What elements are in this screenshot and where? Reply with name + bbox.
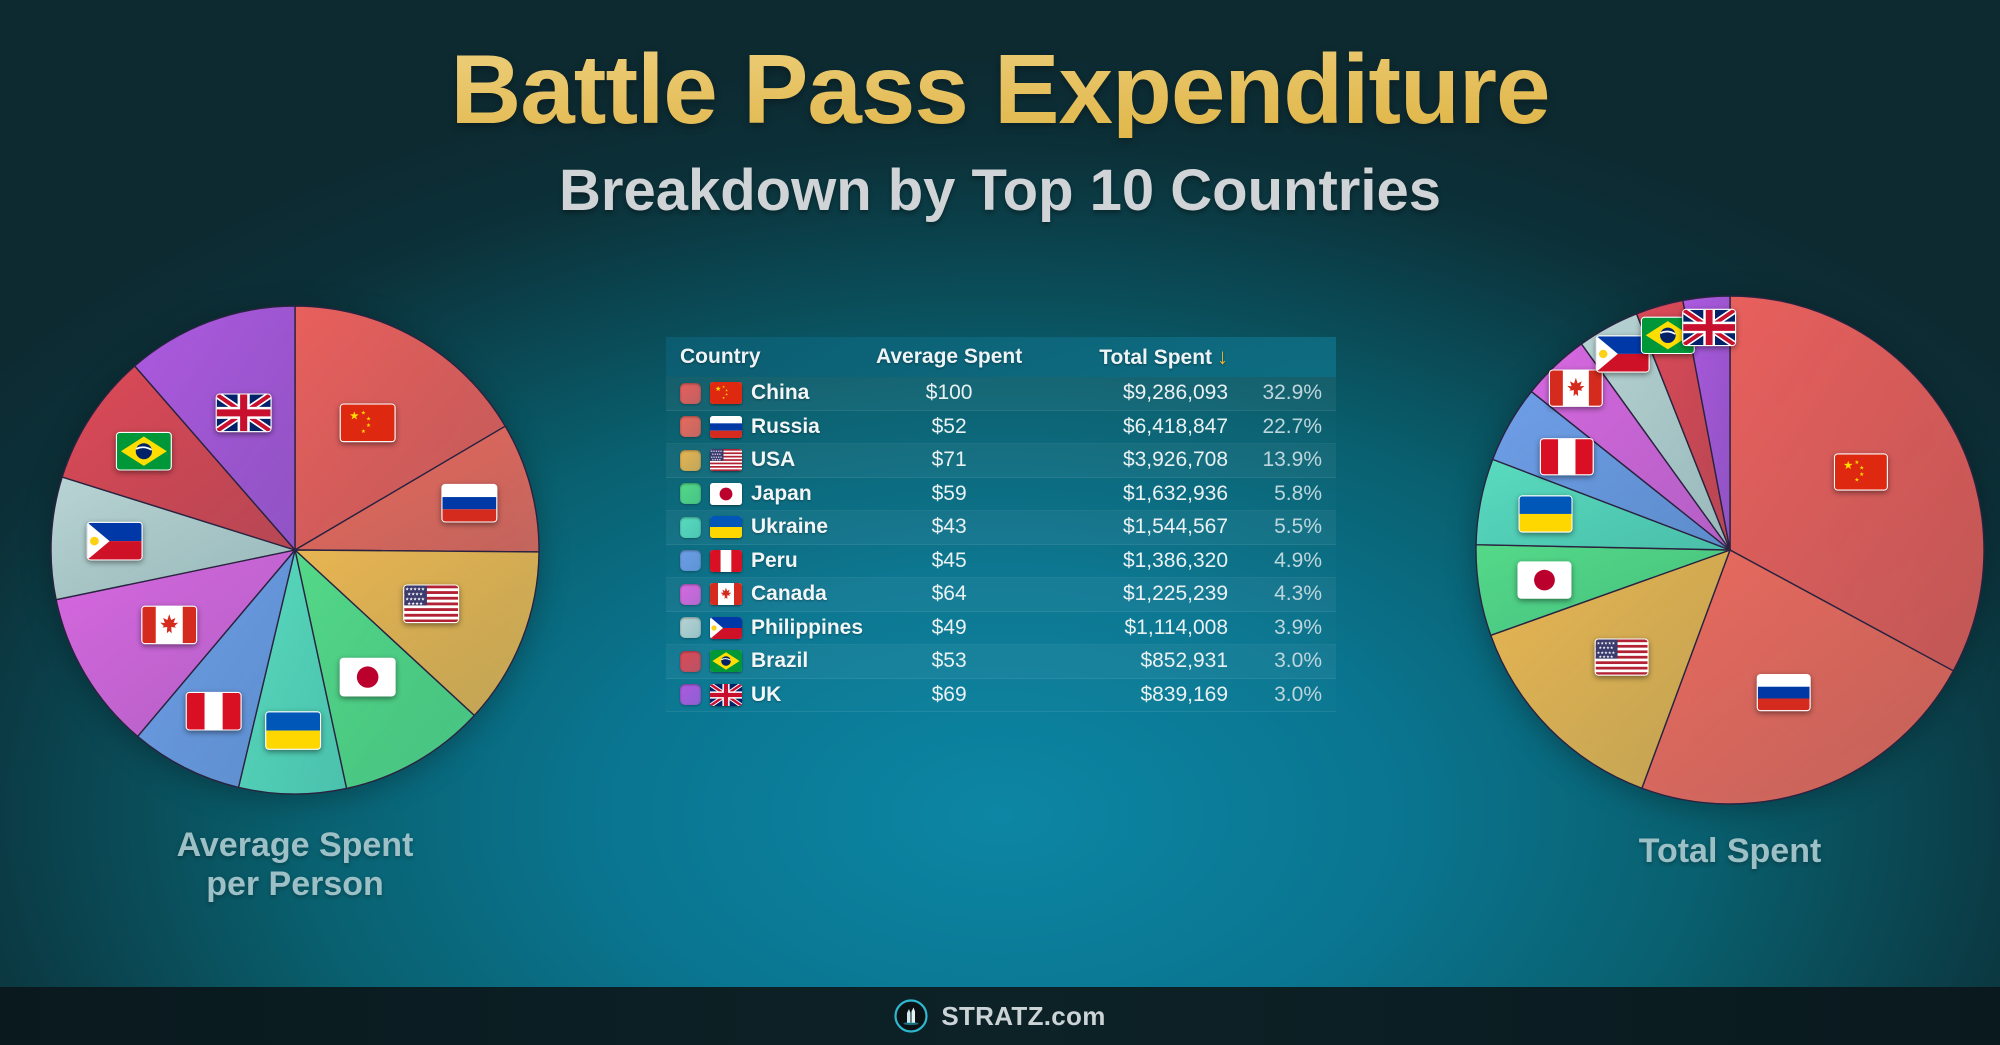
table-row[interactable]: Philippines$49$1,114,0083.9% xyxy=(666,612,1336,646)
table-row[interactable]: Ukraine$43$1,544,5675.5% xyxy=(666,511,1336,545)
column-header-country[interactable]: Country xyxy=(680,345,866,369)
cell-average-spent: $52 xyxy=(866,415,1032,439)
cell-country: Ukraine xyxy=(680,515,866,539)
page-title: Battle Pass Expenditure xyxy=(0,0,2000,138)
svg-text:★: ★ xyxy=(361,428,366,435)
svg-text:★★★★: ★★★★ xyxy=(1599,654,1614,659)
column-header-total-spent[interactable]: Total Spent↓ xyxy=(1032,344,1228,370)
pie-flag-china: ★★★★★ xyxy=(340,404,396,443)
country-name: Russia xyxy=(751,415,820,439)
cell-total-spent: $852,931 xyxy=(1032,649,1228,673)
pie-flag-canada xyxy=(1549,369,1603,406)
cell-percent: 32.9% xyxy=(1228,381,1322,405)
cell-average-spent: $59 xyxy=(866,482,1032,506)
cell-country: ★★★★★China xyxy=(680,381,866,405)
total-spent-pie-panel: ★★★★★★★★★★★★★★★★★★★★★★★ Total Spent xyxy=(1470,290,1990,871)
series-color-swatch xyxy=(680,483,701,504)
us-flag: ★★★★★★★★★★★★★★★★★★ xyxy=(710,449,742,471)
ru-flag xyxy=(710,416,742,438)
pe-flag xyxy=(710,550,742,572)
cell-percent: 13.9% xyxy=(1228,448,1322,472)
table-row[interactable]: Canada$64$1,225,2394.3% xyxy=(666,578,1336,612)
series-color-swatch xyxy=(680,550,701,571)
cell-total-spent: $1,225,239 xyxy=(1032,582,1228,606)
pie-flag-japan xyxy=(340,658,396,697)
pie-flag-uk xyxy=(216,394,272,433)
cell-country: ★★★★★★★★★★★★★★★★★★USA xyxy=(680,448,866,472)
country-name: Canada xyxy=(751,582,827,606)
cell-percent: 4.3% xyxy=(1228,582,1322,606)
pie-flag-usa: ★★★★★★★★★★★★★★★★★★ xyxy=(403,584,459,623)
cell-total-spent: $1,632,936 xyxy=(1032,482,1228,506)
country-breakdown-table: Country Average Spent Total Spent↓ ★★★★★… xyxy=(666,337,1336,712)
cell-percent: 3.9% xyxy=(1228,616,1322,640)
cell-total-spent: $839,169 xyxy=(1032,683,1228,707)
jp-flag xyxy=(710,483,742,505)
footer-bar: STRATZ.com xyxy=(0,987,2000,1045)
cell-total-spent: $3,926,708 xyxy=(1032,448,1228,472)
cell-total-spent: $9,286,093 xyxy=(1032,381,1228,405)
cell-average-spent: $45 xyxy=(866,549,1032,573)
ph-flag xyxy=(710,617,742,639)
pie-flag-usa: ★★★★★★★★★★★★★★★★★★ xyxy=(1595,638,1649,675)
cell-country: Peru xyxy=(680,549,866,573)
table-body: ★★★★★China$100$9,286,09332.9%Russia$52$6… xyxy=(666,377,1336,712)
cell-total-spent: $1,114,008 xyxy=(1032,616,1228,640)
header: Battle Pass Expenditure Breakdown by Top… xyxy=(0,0,2000,220)
country-name: Brazil xyxy=(751,649,808,673)
total-spent-pie-caption: Total Spent xyxy=(1470,832,1990,871)
svg-text:★: ★ xyxy=(1859,472,1864,478)
caption-line-1: Average Spent xyxy=(45,826,545,865)
series-color-swatch xyxy=(680,684,701,705)
pie-flag-ukraine xyxy=(1519,495,1573,532)
cell-country: Russia xyxy=(680,415,866,439)
country-name: Japan xyxy=(751,482,812,506)
average-spent-pie-panel: ★★★★★★★★★★★★★★★★★★★★★★★ Average Spent pe… xyxy=(45,300,545,905)
series-color-swatch xyxy=(680,450,701,471)
cell-percent: 5.8% xyxy=(1228,482,1322,506)
gb-flag xyxy=(710,684,742,706)
br-flag xyxy=(710,650,742,672)
svg-text:★: ★ xyxy=(722,396,725,400)
sort-descending-arrow-icon[interactable]: ↓ xyxy=(1217,344,1228,369)
cell-percent: 4.9% xyxy=(1228,549,1322,573)
pie-flag-uk xyxy=(1682,309,1736,346)
ca-flag xyxy=(710,583,742,605)
series-color-swatch xyxy=(680,517,701,538)
pie-flag-peru xyxy=(1540,438,1594,475)
country-name: USA xyxy=(751,448,795,472)
table-row[interactable]: Japan$59$1,632,9365.8% xyxy=(666,478,1336,512)
pie-flag-brazil xyxy=(116,432,172,471)
cell-percent: 5.5% xyxy=(1228,515,1322,539)
cell-total-spent: $1,386,320 xyxy=(1032,549,1228,573)
table-row[interactable]: Peru$45$1,386,3204.9% xyxy=(666,545,1336,579)
page-subtitle: Breakdown by Top 10 Countries xyxy=(0,162,2000,220)
cell-total-spent: $1,544,567 xyxy=(1032,515,1228,539)
pie-flag-philippines xyxy=(87,522,143,561)
svg-text:★: ★ xyxy=(366,415,371,422)
cell-total-spent: $6,418,847 xyxy=(1032,415,1228,439)
brand-name: STRATZ.com xyxy=(941,1001,1105,1032)
svg-text:★: ★ xyxy=(1859,466,1864,472)
pie-flag-russia xyxy=(441,484,497,523)
series-color-swatch xyxy=(680,617,701,638)
country-name: Peru xyxy=(751,549,798,573)
total-spent-pie-chart[interactable]: ★★★★★★★★★★★★★★★★★★★★★★★ xyxy=(1470,290,1990,810)
cell-average-spent: $69 xyxy=(866,683,1032,707)
cell-percent: 3.0% xyxy=(1228,683,1322,707)
svg-text:★: ★ xyxy=(715,385,721,393)
svg-text:★: ★ xyxy=(366,422,371,429)
stratz-tower-logo-icon xyxy=(894,999,928,1033)
svg-text:★★★★: ★★★★ xyxy=(712,458,722,462)
pie-flag-ukraine xyxy=(265,711,321,750)
average-spent-pie-caption: Average Spent per Person xyxy=(45,826,545,905)
table-row[interactable]: Russia$52$6,418,84722.7% xyxy=(666,411,1336,445)
table-row[interactable]: UK$69$839,1693.0% xyxy=(666,679,1336,713)
table-row[interactable]: ★★★★★★★★★★★★★★★★★★USA$71$3,926,70813.9% xyxy=(666,444,1336,478)
cell-country: Japan xyxy=(680,482,866,506)
cell-average-spent: $100 xyxy=(866,381,1032,405)
cell-average-spent: $49 xyxy=(866,616,1032,640)
svg-text:★: ★ xyxy=(725,393,728,397)
table-row[interactable]: ★★★★★China$100$9,286,09332.9% xyxy=(666,377,1336,411)
cell-country: Philippines xyxy=(680,616,866,640)
svg-text:★★★★: ★★★★ xyxy=(407,601,423,606)
series-color-swatch xyxy=(680,383,701,404)
pie-flag-canada xyxy=(141,606,197,645)
country-name: China xyxy=(751,381,809,405)
caption-line-2: per Person xyxy=(45,865,545,904)
country-name: Ukraine xyxy=(751,515,828,539)
pie-flag-peru xyxy=(186,692,242,731)
table-row[interactable]: Brazil$53$852,9313.0% xyxy=(666,645,1336,679)
pie-flag-russia xyxy=(1757,674,1811,711)
cell-percent: 22.7% xyxy=(1228,415,1322,439)
cell-country: Canada xyxy=(680,582,866,606)
column-header-total-spent-label: Total Spent xyxy=(1099,346,1212,369)
ua-flag xyxy=(710,516,742,538)
country-name: Philippines xyxy=(751,616,863,640)
cn-flag: ★★★★★ xyxy=(710,382,742,404)
table-header-row: Country Average Spent Total Spent↓ xyxy=(666,337,1336,377)
cell-average-spent: $43 xyxy=(866,515,1032,539)
svg-text:★: ★ xyxy=(1854,478,1859,484)
pie-flag-japan xyxy=(1517,561,1571,598)
pie-flag-china: ★★★★★ xyxy=(1834,453,1888,490)
average-spent-pie-chart[interactable]: ★★★★★★★★★★★★★★★★★★★★★★★ xyxy=(45,300,545,800)
column-header-average-spent[interactable]: Average Spent xyxy=(866,345,1032,369)
cell-average-spent: $64 xyxy=(866,582,1032,606)
cell-country: UK xyxy=(680,683,866,707)
series-color-swatch xyxy=(680,651,701,672)
cell-country: Brazil xyxy=(680,649,866,673)
series-color-swatch xyxy=(680,416,701,437)
country-name: UK xyxy=(751,683,781,707)
cell-average-spent: $53 xyxy=(866,649,1032,673)
cell-percent: 3.0% xyxy=(1228,649,1322,673)
svg-text:★: ★ xyxy=(1843,460,1853,472)
svg-text:★: ★ xyxy=(349,410,360,423)
series-color-swatch xyxy=(680,584,701,605)
cell-average-spent: $71 xyxy=(866,448,1032,472)
